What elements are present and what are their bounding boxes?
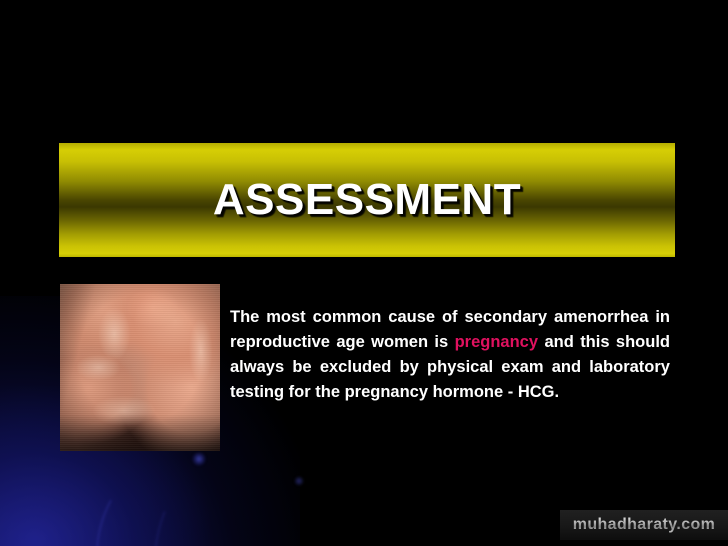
- watermark-text: muhadharaty.com: [573, 516, 716, 534]
- highlight-word-pregnancy: pregnancy: [455, 333, 545, 351]
- fetus-photo: [60, 284, 220, 451]
- body-paragraph: The most common cause of secondary ameno…: [230, 305, 670, 405]
- photo-scanline-layer: [60, 284, 220, 451]
- body-line-1: The most common cause of secondary: [230, 308, 554, 326]
- presentation-slide: ASSESSMENT The most common cause of seco…: [0, 0, 728, 546]
- slide-title: ASSESSMENT: [213, 175, 521, 225]
- body-line-5: testing for the pregnancy hormone - HCG.: [230, 383, 559, 401]
- title-banner: ASSESSMENT: [59, 143, 675, 257]
- body-line-4: excluded by physical exam and laboratory: [320, 358, 670, 376]
- watermark-bar: muhadharaty.com: [560, 510, 728, 540]
- slide-background: [0, 0, 728, 546]
